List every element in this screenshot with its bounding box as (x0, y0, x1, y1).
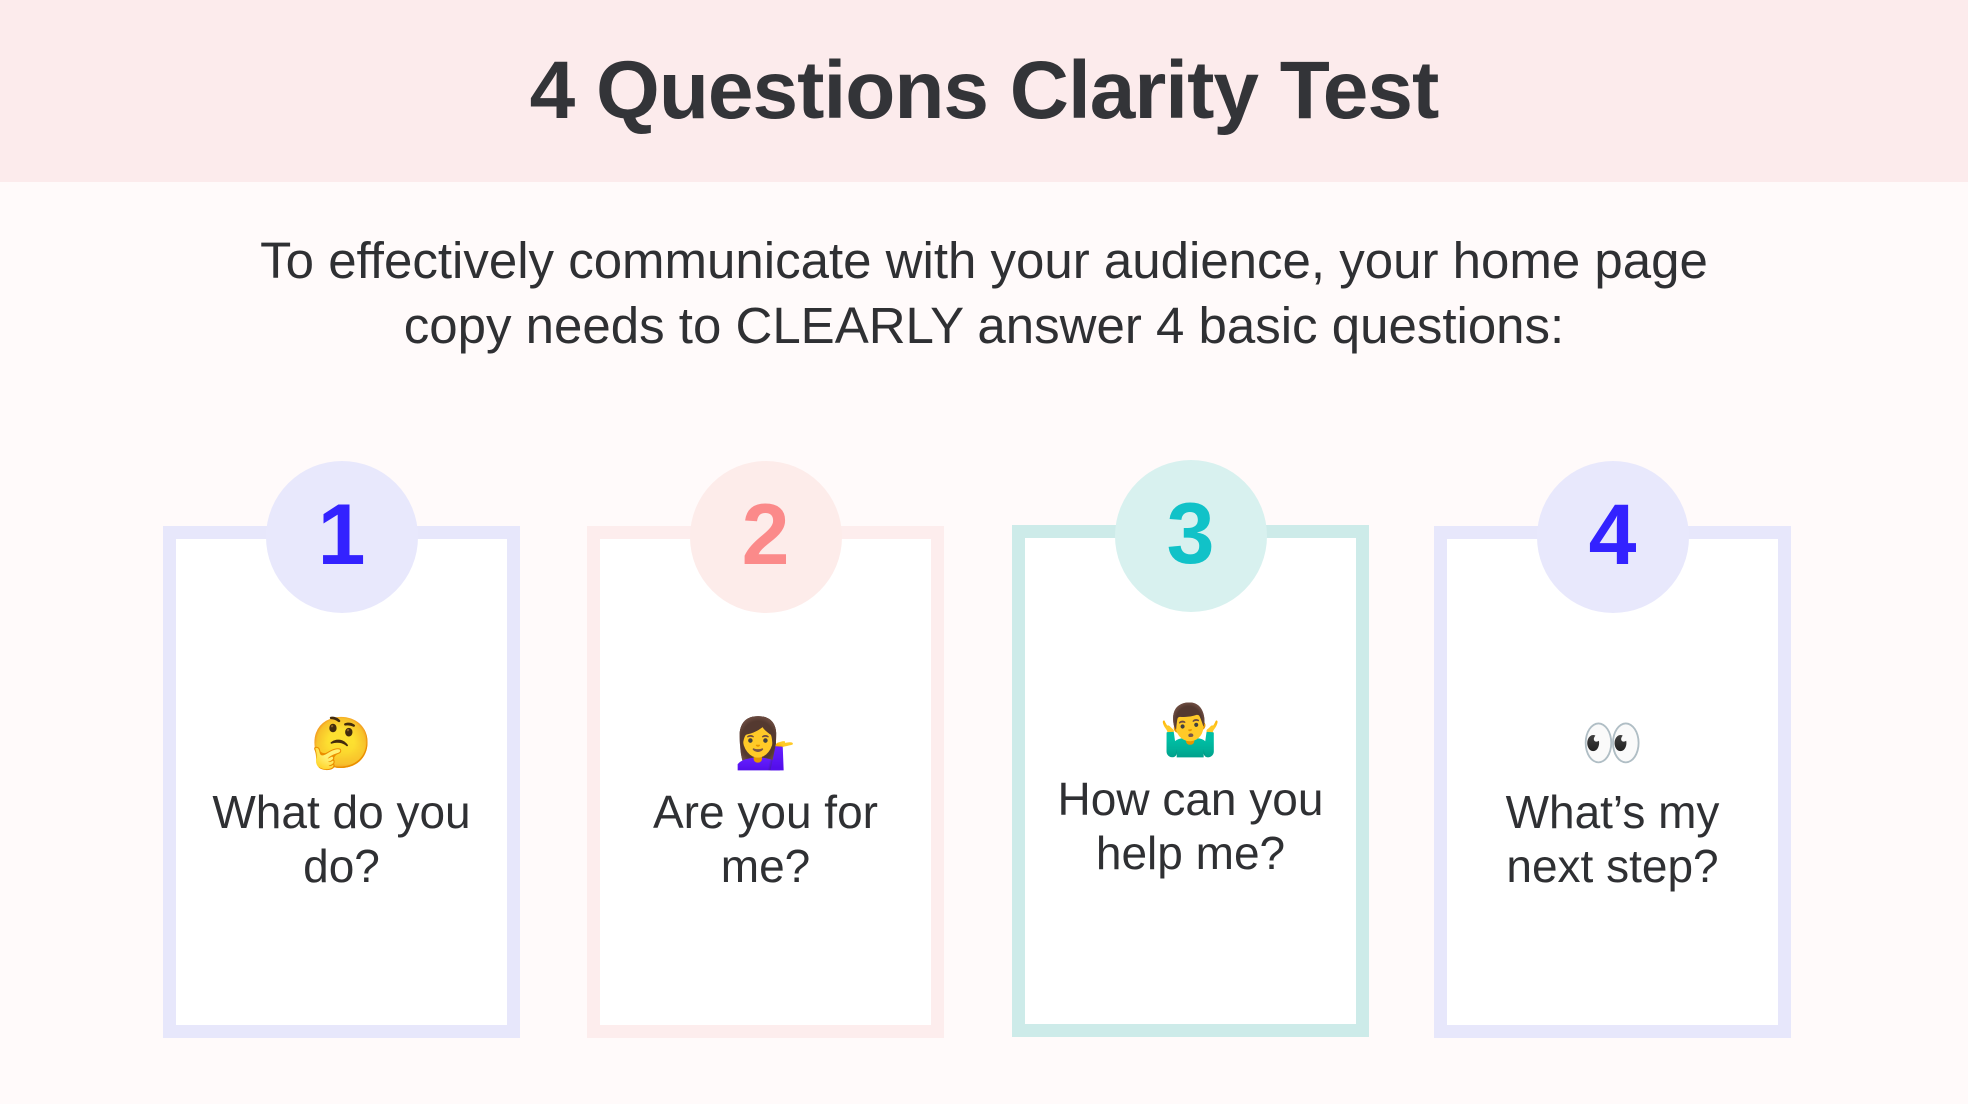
question-text-4: What’s my next step? (1465, 785, 1760, 894)
intro-text: To effectively communicate with your aud… (254, 228, 1714, 359)
intro-section: To effectively communicate with your aud… (0, 228, 1968, 359)
step-badge-1: 1 (266, 461, 418, 613)
question-cards-row: 1 🤔 What do you do? 2 💁‍♀️ Are you for m… (163, 526, 1805, 1038)
question-text-1: What do you do? (194, 785, 489, 894)
step-number-2: 2 (742, 492, 790, 578)
step-badge-4: 4 (1537, 461, 1689, 613)
step-number-1: 1 (318, 492, 366, 578)
question-card-4[interactable]: 4 👀 What’s my next step? (1434, 526, 1791, 1038)
question-card-1[interactable]: 1 🤔 What do you do? (163, 526, 520, 1038)
card-body-1: 🤔 What do you do? (176, 715, 507, 894)
header-band: 4 Questions Clarity Test (0, 0, 1968, 182)
step-number-4: 4 (1589, 492, 1637, 578)
question-text-3: How can you help me? (1043, 772, 1338, 881)
card-body-2: 💁‍♀️ Are you for me? (600, 715, 931, 894)
woman-tipping-hand-emoji: 💁‍♀️ (734, 715, 796, 771)
step-badge-2: 2 (690, 461, 842, 613)
card-body-4: 👀 What’s my next step? (1447, 715, 1778, 894)
step-badge-3: 3 (1115, 460, 1267, 612)
step-number-3: 3 (1167, 491, 1215, 577)
card-body-3: 🤷‍♂️ How can you help me? (1025, 702, 1356, 881)
man-shrugging-emoji: 🤷‍♂️ (1159, 702, 1221, 758)
question-text-2: Are you for me? (618, 785, 913, 894)
thinking-face-emoji: 🤔 (310, 715, 372, 771)
question-card-3[interactable]: 3 🤷‍♂️ How can you help me? (1012, 525, 1369, 1037)
eyes-emoji: 👀 (1581, 715, 1643, 771)
question-card-2[interactable]: 2 💁‍♀️ Are you for me? (587, 526, 944, 1038)
page-title: 4 Questions Clarity Test (530, 50, 1439, 132)
